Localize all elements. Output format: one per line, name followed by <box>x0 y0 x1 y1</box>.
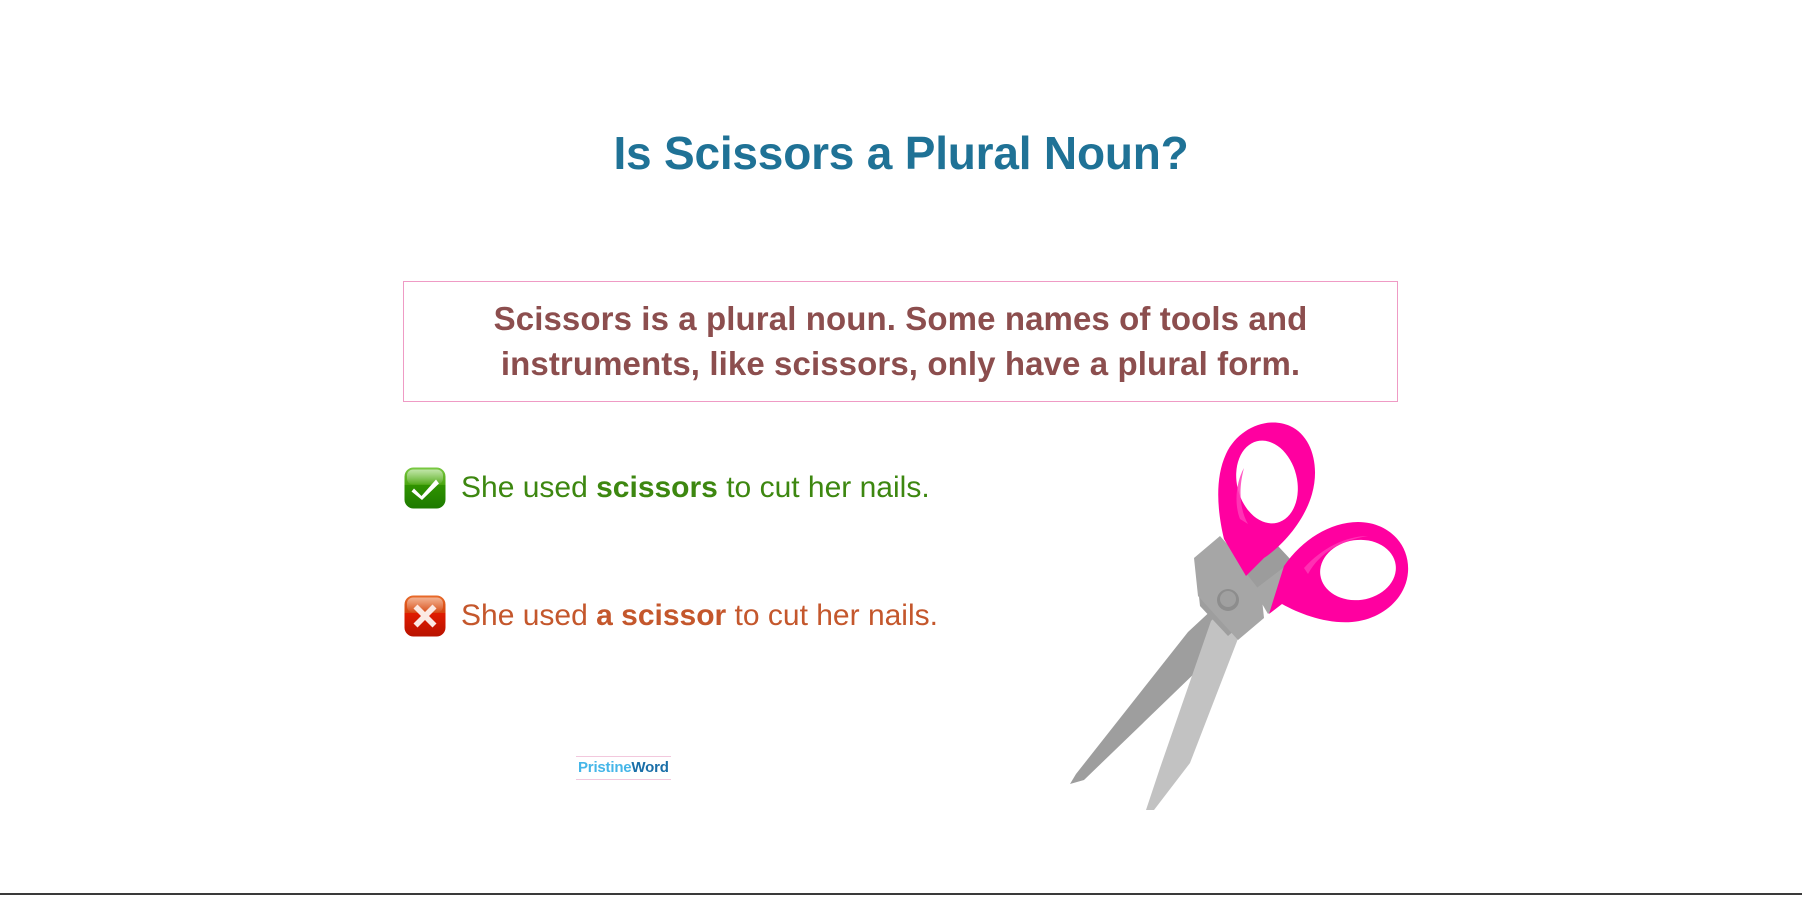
logo-text-word: Word <box>631 759 668 776</box>
example-prefix: She used <box>461 599 596 632</box>
example-highlight: a scissor <box>596 599 726 632</box>
example-row-correct: She used scissors to cut her nails. <box>403 466 930 510</box>
definition-text: Scissors is a plural noun. Some names of… <box>404 297 1397 386</box>
pristineword-logo[interactable]: PristineWord <box>576 756 671 780</box>
example-prefix: She used <box>461 471 596 504</box>
example-highlight: scissors <box>596 471 718 504</box>
page-title: Is Scissors a Plural Noun? <box>0 128 1802 179</box>
example-suffix: to cut her nails. <box>726 599 938 632</box>
example-text-incorrect: She used a scissor to cut her nails. <box>461 598 938 634</box>
slide-canvas: Is Scissors a Plural Noun? Scissors is a… <box>0 0 1802 902</box>
example-text-correct: She used scissors to cut her nails. <box>461 470 930 506</box>
footer-divider <box>0 893 1802 895</box>
red-cross-badge-icon <box>403 594 447 638</box>
logo-text-pristine: Pristine <box>578 759 631 776</box>
scissors-illustration <box>1068 418 1418 813</box>
example-row-incorrect: She used a scissor to cut her nails. <box>403 594 938 638</box>
definition-box: Scissors is a plural noun. Some names of… <box>403 281 1398 402</box>
green-check-badge-icon <box>403 466 447 510</box>
example-suffix: to cut her nails. <box>718 471 930 504</box>
